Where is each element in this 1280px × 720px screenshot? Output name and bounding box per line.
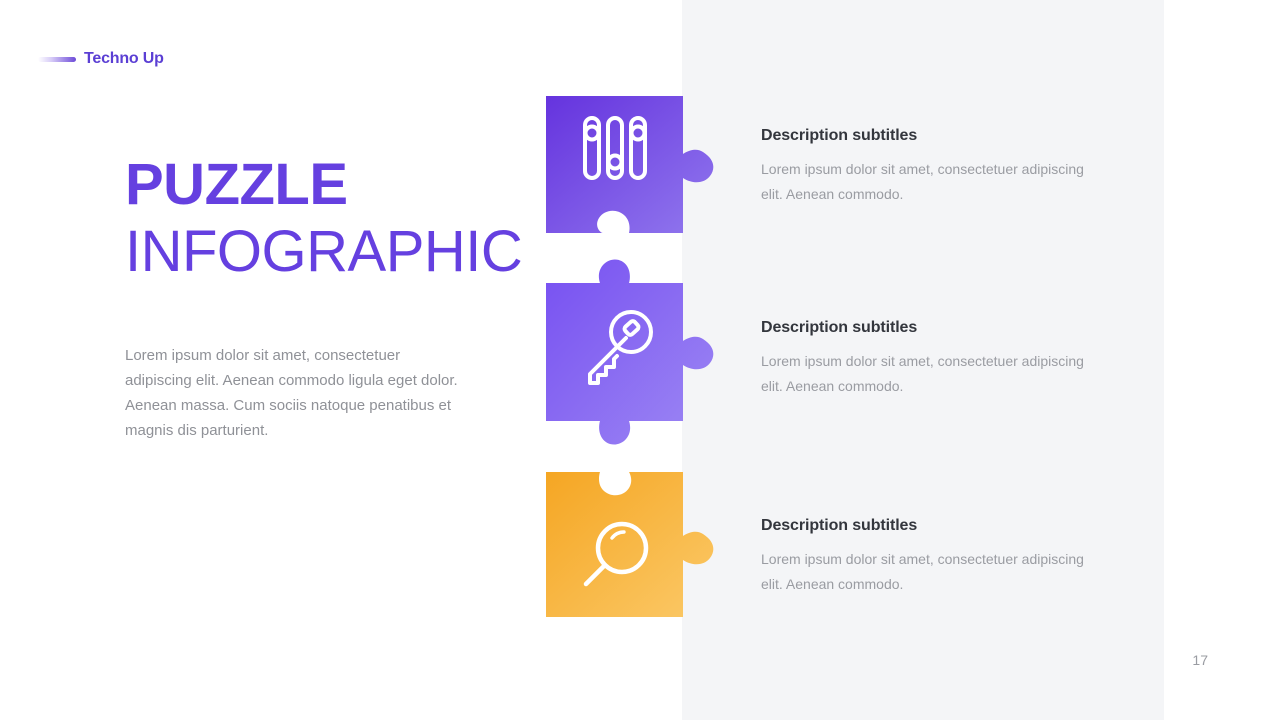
puzzle-stack [546,96,736,626]
description-title: Description subtitles [761,517,1086,535]
description-title: Description subtitles [761,127,1086,145]
description-item: Description subtitles Lorem ipsum dolor … [761,517,1086,597]
lead-paragraph: Lorem ipsum dolor sit amet, consectetuer… [125,343,470,443]
description-item: Description subtitles Lorem ipsum dolor … [761,319,1086,399]
page-title-line-2: INFOGRAPHIC [125,218,525,286]
page-number: 17 [1192,652,1208,668]
description-body: Lorem ipsum dolor sit amet, consectetuer… [761,547,1086,597]
puzzle-piece-settings[interactable] [546,96,736,246]
description-item: Description subtitles Lorem ipsum dolor … [761,127,1086,207]
page-title-line-1: PUZZLE [125,152,525,218]
description-body: Lorem ipsum dolor sit amet, consectetuer… [761,157,1086,207]
page-title: PUZZLE INFOGRAPHIC [125,152,525,286]
brand-rule-icon [38,57,76,62]
brand-name: Techno Up [84,50,164,68]
brand-logo[interactable]: Techno Up [38,46,164,72]
slide-canvas: Techno Up PUZZLE INFOGRAPHIC Lorem ipsum… [0,0,1280,720]
puzzle-piece-key[interactable] [546,255,736,449]
description-title: Description subtitles [761,319,1086,337]
description-body: Lorem ipsum dolor sit amet, consectetuer… [761,349,1086,399]
puzzle-piece-search[interactable] [546,472,736,634]
puzzle-shape-search [546,472,713,617]
